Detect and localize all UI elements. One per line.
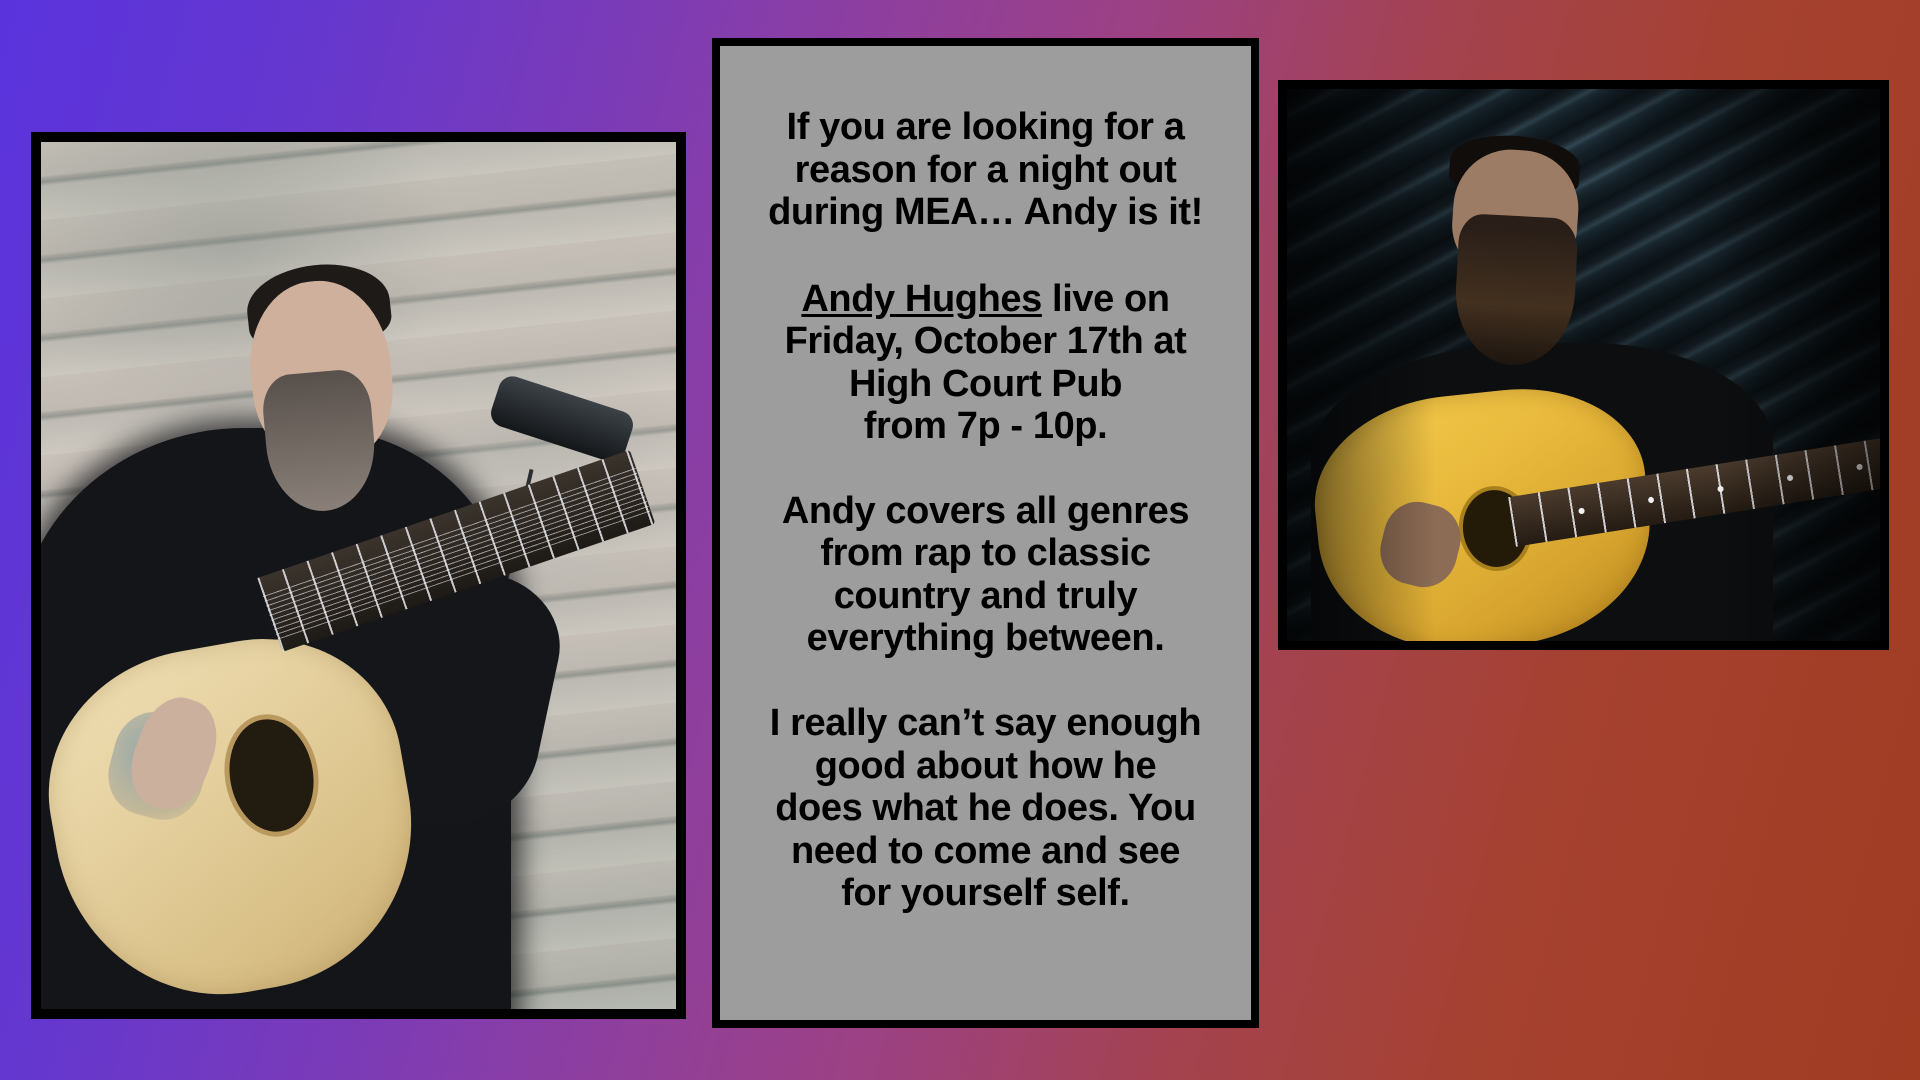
announcement-text-panel: If you are looking for a reason for a ni… <box>712 38 1259 1028</box>
performer-name: Andy Hughes <box>801 278 1042 320</box>
intro-paragraph: If you are looking for a reason for a ni… <box>738 106 1233 234</box>
event-details-paragraph: Andy Hughes live on Friday, October 17th… <box>738 278 1233 448</box>
left-photo-canvas <box>41 142 676 1009</box>
right-photo-canvas <box>1287 89 1880 641</box>
genres-paragraph: Andy covers all genres from rap to class… <box>738 490 1233 660</box>
event-flyer-poster: If you are looking for a reason for a ni… <box>0 0 1920 1080</box>
left-performer-photo <box>31 132 686 1019</box>
right-performer-photo <box>1278 80 1889 650</box>
endorsement-paragraph: I really can’t say enough good about how… <box>738 702 1233 915</box>
